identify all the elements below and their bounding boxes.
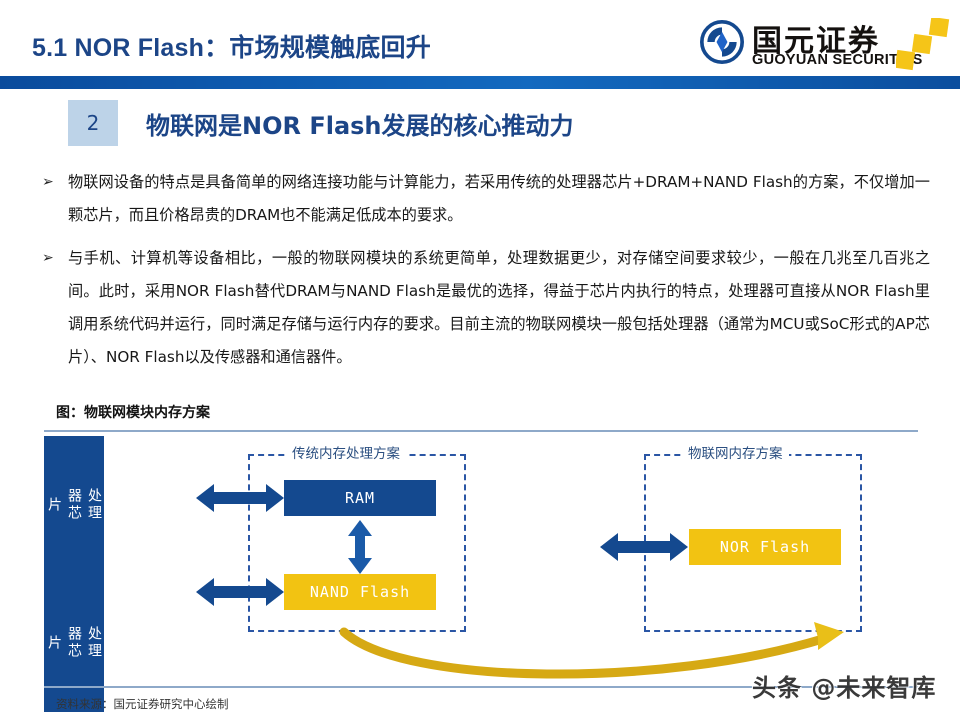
bullet-item: ➢ 与手机、计算机等设备相比，一般的物联网模块的系统更简单，处理数据更少，对存储… [42,242,930,374]
section-title: 物联网是NOR Flash发展的核心推动力 [118,100,574,146]
bullet-marker-icon: ➢ [42,242,68,374]
nor-flash-label: NOR Flash [720,538,810,556]
guoyuan-circle-mark-icon [700,20,744,64]
processor-chip-label-right: 处理 器芯 片 [44,610,104,676]
section-number: 2 [68,100,118,146]
bullet-marker-icon: ➢ [42,166,68,232]
legacy-scheme-label: 传统内存处理方案 [286,442,406,462]
processor-chip-label-left: 处理 器芯 片 [44,472,104,538]
bullet-text: 物联网设备的特点是具备简单的网络连接功能与计算能力，若采用传统的处理器芯片+DR… [68,166,930,232]
source-note: 资料来源：国元证券研究中心绘制 [56,696,229,712]
ram-label: RAM [345,489,375,507]
slide-root: 5.1 NOR Flash：市场规模触底回升 国元证券 GUOYUAN SECU… [0,0,960,720]
iot-scheme-label: 物联网内存方案 [682,442,789,462]
page-title: 5.1 NOR Flash：市场规模触底回升 [32,28,431,64]
section-heading-row: 2 物联网是NOR Flash发展的核心推动力 [68,100,574,146]
caption-divider [44,430,918,432]
figure-caption: 图：物联网模块内存方案 [56,402,210,422]
nand-flash-label: NAND Flash [310,583,410,601]
bullet-text: 与手机、计算机等设备相比，一般的物联网模块的系统更简单，处理数据更少，对存储空间… [68,242,930,374]
processor-chip-box-left: 处理 器芯 片 [44,436,104,574]
nor-flash-box: NOR Flash [689,529,841,565]
processor-chip-box-right: 处理 器芯 片 [44,574,104,712]
ram-box: RAM [284,480,436,516]
memory-architecture-diagram: 传统内存处理方案 物联网内存方案 处理 器芯 片 RAM NAND Flash … [44,436,918,686]
body-bullets: ➢ 物联网设备的特点是具备简单的网络连接功能与计算能力，若采用传统的处理器芯片+… [42,166,930,384]
header-band [0,76,960,89]
company-logo: 国元证券 GUOYUAN SECURITIES [700,16,950,74]
nand-flash-box: NAND Flash [284,574,436,610]
bullet-item: ➢ 物联网设备的特点是具备简单的网络连接功能与计算能力，若采用传统的处理器芯片+… [42,166,930,232]
logo-squares-icon [896,18,950,72]
watermark: 头条 @未来智库 [752,668,936,703]
